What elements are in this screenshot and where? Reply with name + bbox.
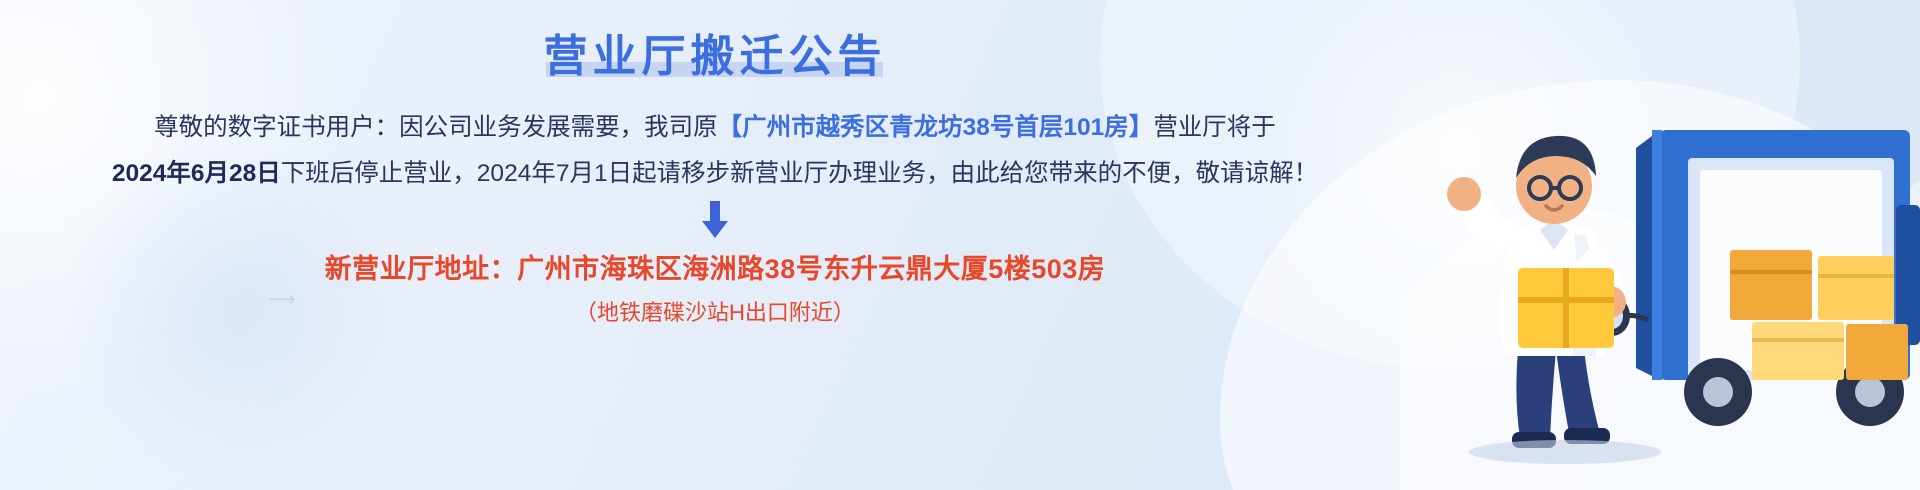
page-title-wrapper: 营业厅搬迁公告 xyxy=(544,33,887,81)
truck-wheel-front-hub xyxy=(1855,377,1885,407)
announcement-line-1: 尊敬的数字证书用户：因公司业务发展需要，我司原【广州市越秀区青龙坊38号首层10… xyxy=(0,105,1430,151)
cardboard-box-2 xyxy=(1818,256,1894,320)
new-address-text: 新营业厅地址：广州市海珠区海洲路38号东升云鼎大厦5楼503房 xyxy=(0,247,1430,286)
line1-prefix-text: 尊敬的数字证书用户：因公司业务发展需要，我司原 xyxy=(154,114,718,141)
truck-door-edge xyxy=(1652,130,1662,380)
announcement-content: 营业厅搬迁公告 尊敬的数字证书用户：因公司业务发展需要，我司原【广州市越秀区青龙… xyxy=(0,0,1430,490)
announcement-body: 尊敬的数字证书用户：因公司业务发展需要，我司原【广州市越秀区青龙坊38号首层10… xyxy=(0,105,1430,197)
cardboard-box-4 xyxy=(1846,324,1908,380)
truck-wheel-rear-hub xyxy=(1703,377,1733,407)
relocation-announcement-banner: 营业厅搬迁公告 尊敬的数字证书用户：因公司业务发展需要，我司原【广州市越秀区青龙… xyxy=(0,0,1920,490)
line1-suffix-text: 营业厅将于 xyxy=(1153,114,1276,141)
arrow-row xyxy=(0,201,1430,241)
page-title: 营业厅搬迁公告 xyxy=(544,33,887,81)
line2-rest-text: 下班后停止营业，2024年7月1日起请移步新营业厅办理业务，由此给您带来的不便，… xyxy=(281,160,1318,187)
mover-shadow xyxy=(1469,440,1661,464)
cardboard-box-3 xyxy=(1752,322,1844,380)
subway-note-text: （地铁磨碟沙站H出口附近） xyxy=(0,295,1430,327)
closing-date-text: 2024年6月28日 xyxy=(112,160,281,187)
announcement-line-2: 2024年6月28日下班后停止营业，2024年7月1日起请移步新营业厅办理业务，… xyxy=(0,151,1430,197)
mover-leg-left xyxy=(1516,350,1556,438)
cardboard-box-1 xyxy=(1730,250,1812,320)
moving-truck-illustration xyxy=(1400,0,1920,490)
mover-hand-left xyxy=(1447,177,1481,211)
old-address-highlight: 【广州市越秀区青龙坊38号首层101房】 xyxy=(718,114,1154,141)
